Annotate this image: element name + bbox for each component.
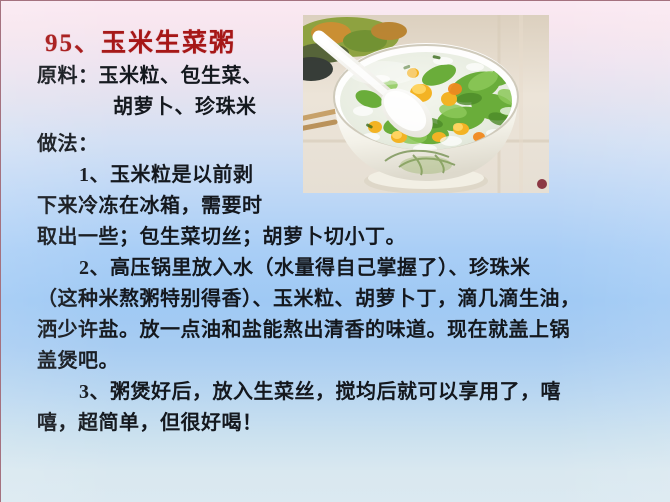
ingredients-line-2: 胡萝卜、珍珠米: [37, 92, 649, 123]
step-3-line-2: 嘻，超简单，但很好喝！: [37, 408, 649, 439]
step-1-line-3: 取出一些；包生菜切丝；胡萝卜切小丁。: [37, 222, 649, 253]
method-heading: 做法：: [37, 129, 649, 160]
step-2-line-1: 2、高压锅里放入水（水量得自己掌握了）、珍珠米: [37, 253, 649, 284]
step-2-line-2: （这种米熬粥特别得香）、玉米粒、胡萝卜丁，滴几滴生油，: [37, 284, 649, 315]
page-title: 95、玉米生菜粥: [45, 23, 236, 59]
step-2-line-4: 盖煲吧。: [37, 346, 649, 377]
ingredients-line-1: 原料：玉米粒、包生菜、: [37, 61, 649, 92]
step-2-line-3: 洒少许盐。放一点油和盐能熬出清香的味道。现在就盖上锅: [37, 315, 649, 346]
step-3-line-1: 3、粥煲好后，放入生菜丝，搅均后就可以享用了，嘻: [37, 377, 649, 408]
recipe-body: 原料：玉米粒、包生菜、 胡萝卜、珍珠米 做法： 1、玉米粒是以前剥 下来冷冻在冰…: [37, 61, 649, 439]
slide-canvas: 95、玉米生菜粥: [0, 0, 670, 502]
step-1-line-1: 1、玉米粒是以前剥: [37, 160, 649, 191]
step-1-line-2: 下来冷冻在冰箱，需要时: [37, 191, 649, 222]
